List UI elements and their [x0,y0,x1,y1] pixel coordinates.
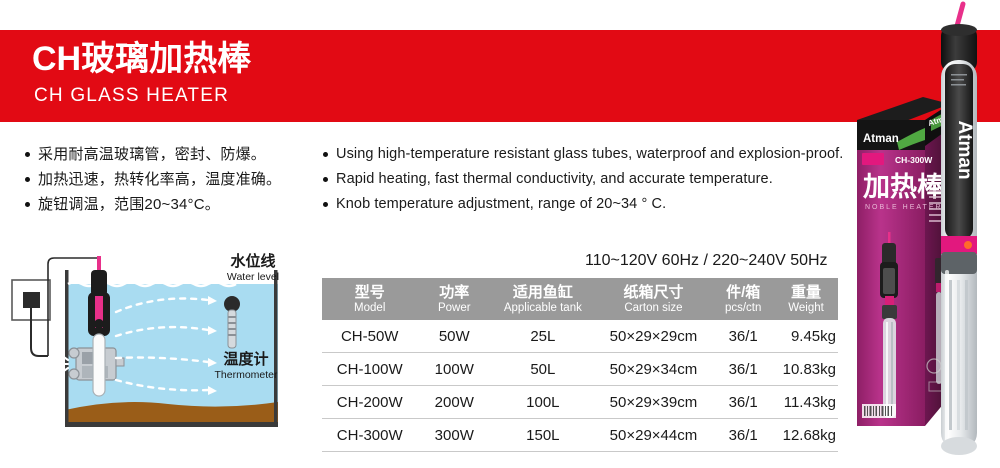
cell-power: 50W [417,320,491,353]
column-header-cn: 纸箱尺寸 [595,284,713,301]
water-level-label-en: Water level [227,271,279,283]
column-header-cn: 功率 [417,284,491,301]
cell-weight: 10.83kg [774,353,838,386]
column-header-weight: 重量 Weight [774,278,838,320]
cell-carton: 50×29×29cm [595,320,713,353]
feature-item: 旋钮调温，范围20~34°C。 [24,192,324,217]
cell-model: CH-50W [322,320,417,353]
thermometer-label-cn: 温度计 [223,350,268,368]
table-header-row: 型号 Model 功率 Power 适用鱼缸 Applicable tank 纸… [322,278,838,320]
tank-wall-right [274,270,278,426]
cell-carton: 50×29×34cm [595,353,713,386]
page-title-cn: CH玻璃加热棒 [32,38,251,80]
page-title-en: CH GLASS HEATER [34,84,229,108]
cell-power: 100W [417,353,491,386]
column-header-en: pcs/ctn [712,301,774,315]
feature-item: Rapid heating, fast thermal conductivity… [322,167,862,192]
feature-item: Knob temperature adjustment, range of 20… [322,192,862,217]
feature-column-chinese: 采用耐高温玻璃管，密封、防爆。 加热迅速，热转化率高，温度准确。 旋钮调温，范围… [24,142,324,217]
cell-tank: 150L [491,419,595,452]
column-header-cn: 重量 [774,284,838,301]
column-header-applicable-tank: 适用鱼缸 Applicable tank [491,278,595,320]
water-level-label-cn: 水位线 [230,252,275,270]
cell-pcs: 36/1 [712,320,774,353]
product-photo: Atman Atman CH-300W 加热棒 NOBLE HEATER [835,0,1000,468]
column-header-en: Weight [774,301,838,315]
heater-cord-stub [957,4,963,26]
cell-model: CH-100W [322,353,417,386]
tank-wall-left [65,270,69,426]
column-header-cn: 件/箱 [712,284,774,301]
column-header-model: 型号 Model [322,278,417,320]
column-header-carton-size: 纸箱尺寸 Carton size [595,278,713,320]
voltage-note: 110~120V 60Hz / 220~240V 50Hz [585,252,828,270]
cell-model: CH-200W [322,386,417,419]
aquarium-diagram: 水位线 Water level 温度计 Thermometer [8,252,318,452]
column-header-cn: 型号 [322,284,417,301]
column-header-en: Power [417,301,491,315]
product-box: Atman Atman CH-300W 加热棒 NOBLE HEATER [857,97,953,426]
cell-tank: 25L [491,320,595,353]
cell-weight: 12.68kg [774,419,838,452]
heater-brand-label: Atman [954,120,975,179]
cell-weight: 9.45kg [774,320,838,353]
feature-column-english: Using high-temperature resistant glass t… [322,142,862,217]
column-header-en: Applicable tank [491,301,595,315]
heater-tube-tip [941,437,977,455]
tank-base [65,422,278,427]
plug-icon [23,292,40,308]
box-model-label: CH-300W [895,155,933,165]
cell-pcs: 36/1 [712,419,774,452]
thermometer-label-en: Thermometer [214,369,278,381]
cell-pcs: 36/1 [712,353,774,386]
column-header-cn: 适用鱼缸 [491,284,595,301]
cell-power: 300W [417,419,491,452]
cell-model: CH-300W [322,419,417,452]
cell-pcs: 36/1 [712,386,774,419]
table-row: CH-100W 100W 50L 50×29×34cm 36/1 10.83kg [322,353,838,386]
cell-tank: 50L [491,353,595,386]
column-header-en: Carton size [595,301,713,315]
box-brand-label: Atman [863,133,899,145]
table-row: CH-200W 200W 100L 50×29×39cm 36/1 11.43k… [322,386,838,419]
table-row: CH-50W 50W 25L 50×29×29cm 36/1 9.45kg [322,320,838,353]
column-header-en: Model [322,301,417,315]
cell-tank: 100L [491,386,595,419]
heater-glass-highlight [945,270,949,442]
heater-indicator-light [964,241,972,249]
cell-power: 200W [417,386,491,419]
column-header-pcs-per-carton: 件/箱 pcs/ctn [712,278,774,320]
heater-cap-top [941,24,977,36]
cell-weight: 11.43kg [774,386,838,419]
box-badge [862,153,884,165]
specification-table: 型号 Model 功率 Power 适用鱼缸 Applicable tank 纸… [322,278,838,452]
heater-product: Atman [941,4,977,455]
table-row: CH-300W 300W 150L 50×29×44cm 36/1 12.68k… [322,419,838,452]
feature-item: Using high-temperature resistant glass t… [322,142,862,167]
heater-element-rods [949,280,968,430]
column-header-power: 功率 Power [417,278,491,320]
cell-carton: 50×29×39cm [595,386,713,419]
feature-item: 加热迅速，热转化率高，温度准确。 [24,167,324,192]
feature-item: 采用耐高温玻璃管，密封、防爆。 [24,142,324,167]
cell-carton: 50×29×44cm [595,419,713,452]
